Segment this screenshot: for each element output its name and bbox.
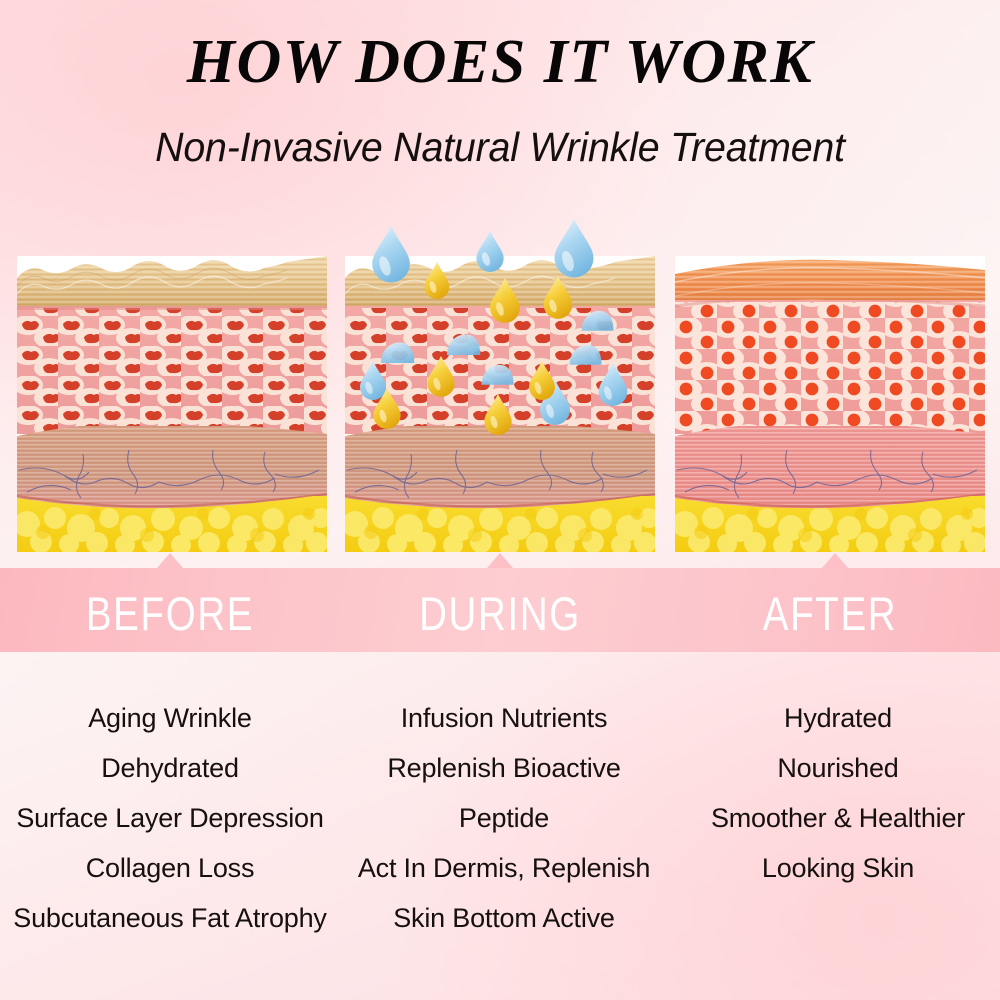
band-notch-after [822,553,848,568]
benefit-column-during: Infusion Nutrients Replenish Bioactive P… [334,693,674,943]
list-item: Dehydrated [0,743,340,793]
skin-cross-section-aged [17,256,327,552]
list-item: Skin Bottom Active [334,893,674,943]
skin-cross-section-healthy [675,256,985,552]
illustration-row [0,256,1000,552]
list-item: Replenish Bioactive [334,743,674,793]
illustration-panel-after [675,256,985,552]
list-item: Aging Wrinkle [0,693,340,743]
list-item: Act In Dermis, Replenish [334,843,674,893]
illustration-panel-before [17,256,327,552]
benefit-column-before: Aging Wrinkle Dehydrated Surface Layer D… [0,693,340,943]
page-title: HOW DOES IT WORK [0,30,1000,95]
illustration-panel-during [345,256,655,552]
benefit-column-after: Hydrated Nourished Smoother & Healthier … [668,693,1000,893]
list-item: Collagen Loss [0,843,340,893]
benefit-columns: Aging Wrinkle Dehydrated Surface Layer D… [0,693,1000,963]
stage-label-after: AFTER [707,586,953,641]
band-notch-before [157,553,183,568]
list-item: Looking Skin [668,843,1000,893]
list-item: Surface Layer Depression [0,793,340,843]
list-item: Peptide [334,793,674,843]
stage-label-during: DURING [377,586,623,641]
stage-label-band: BEFORE DURING AFTER [0,568,1000,652]
band-notch-during [487,553,513,568]
stage-label-before: BEFORE [47,586,293,641]
list-item: Subcutaneous Fat Atrophy [0,893,340,943]
list-item: Smoother & Healthier [668,793,1000,843]
list-item: Hydrated [668,693,1000,743]
page-subtitle: Non-Invasive Natural Wrinkle Treatment [20,124,980,171]
infographic-page: HOW DOES IT WORK Non-Invasive Natural Wr… [0,0,1000,1000]
list-item: Nourished [668,743,1000,793]
skin-cross-section-with-droplets [345,256,655,552]
list-item: Infusion Nutrients [334,693,674,743]
